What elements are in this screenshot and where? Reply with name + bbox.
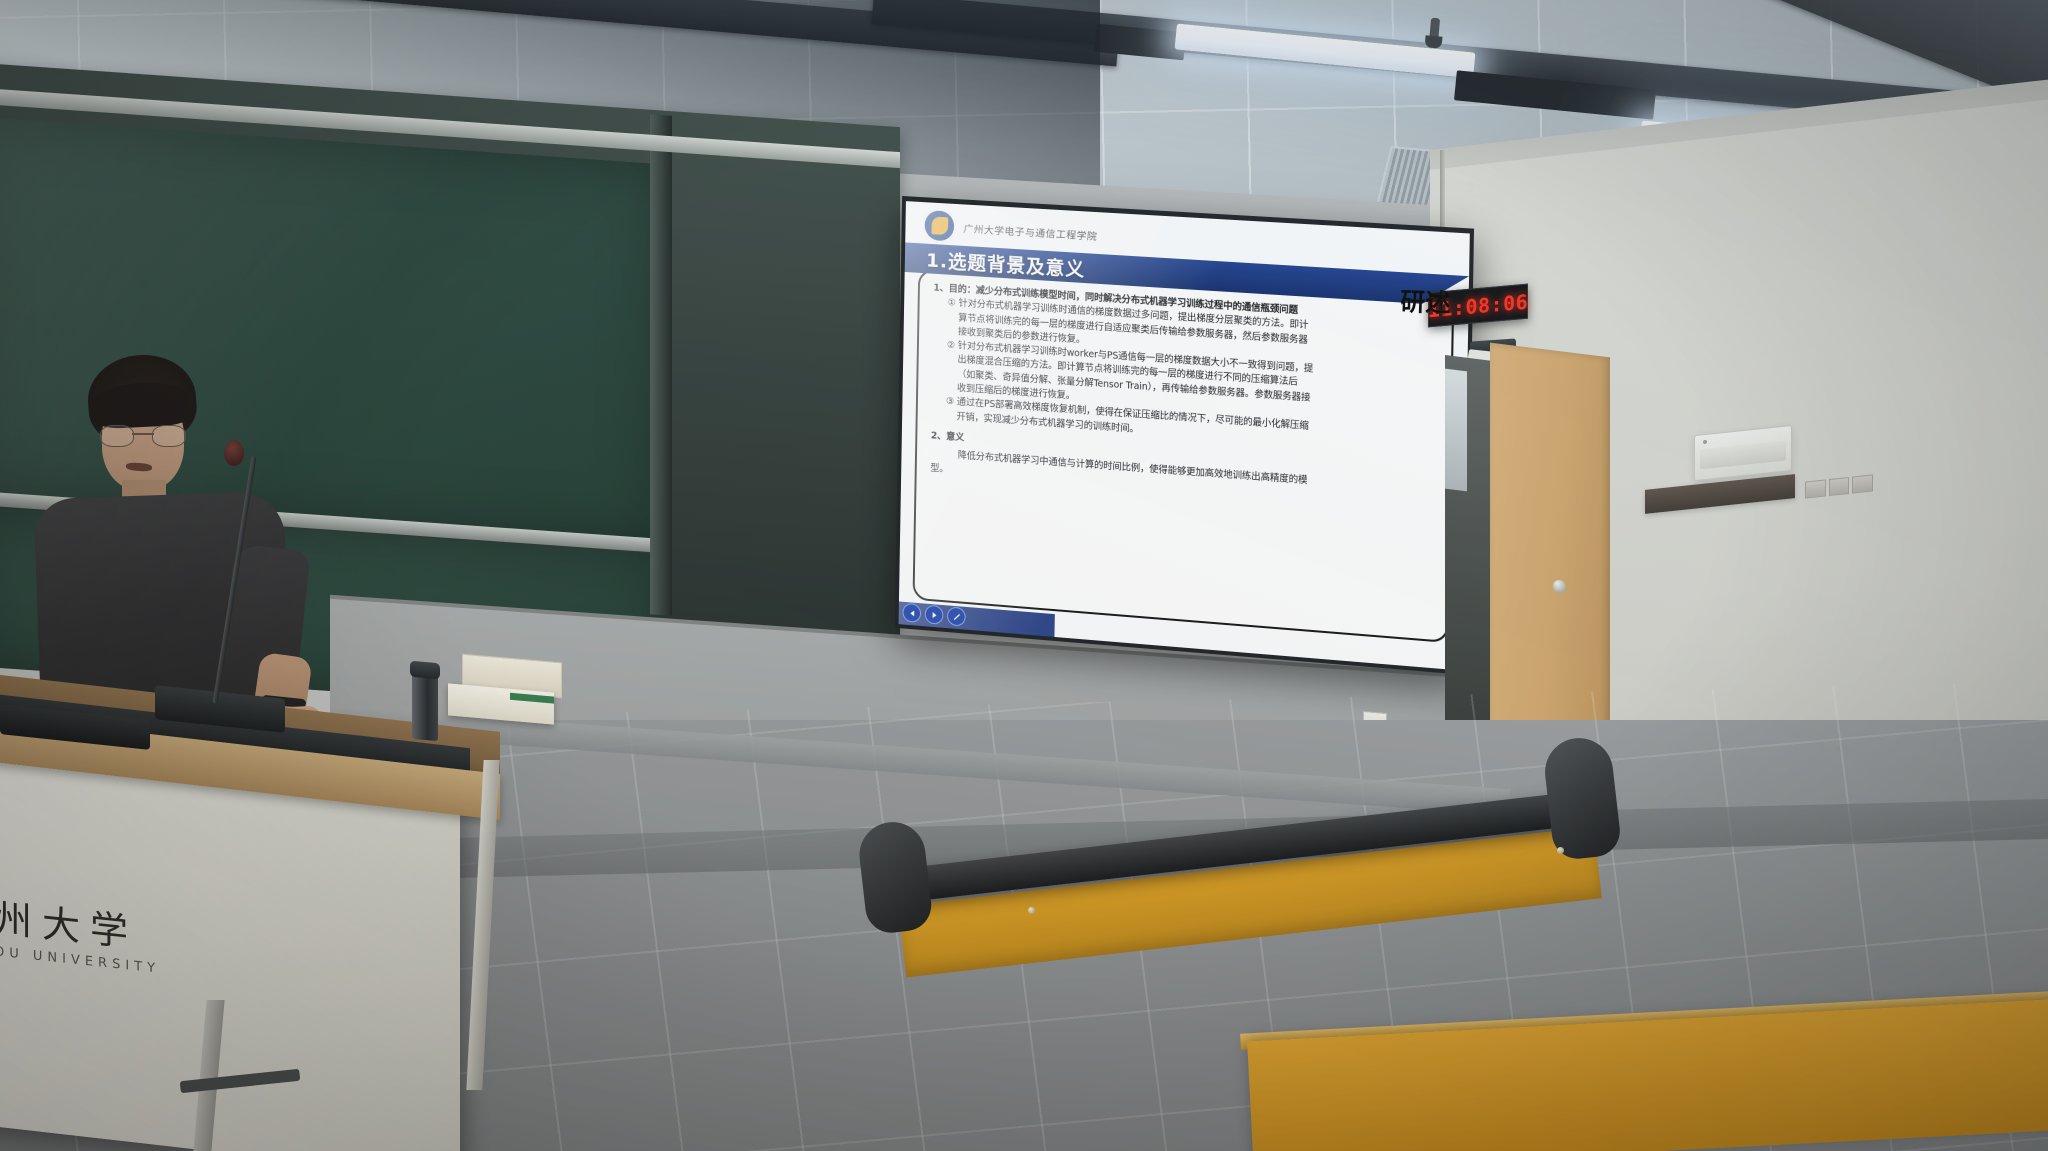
chalkboard-right-edge xyxy=(650,114,672,616)
powerpoint-slide[interactable]: 广州大学电子与通信工程学院 1.选题背景及意义 1、目的：减少分布式训练模型时间… xyxy=(899,201,1470,670)
sprinkler-head-icon xyxy=(1429,18,1440,45)
light-switch[interactable] xyxy=(1805,479,1826,498)
pen-annotation-button[interactable] xyxy=(947,606,966,626)
corridor-light xyxy=(1445,369,1467,492)
microphone-head-icon xyxy=(224,440,244,466)
ac-status-led-icon xyxy=(1703,440,1707,444)
previous-slide-button[interactable] xyxy=(902,603,921,623)
classroom-photo-scene: 广州大学电子与通信工程学院 1.选题背景及意义 1、目的：减少分布式训练模型时间… xyxy=(0,0,2048,1151)
slide-body: 1、目的：减少分布式训练模型时间，同时解决分布式机器学习训练过程中的通信瓶颈问题… xyxy=(913,269,1455,643)
light-switch[interactable] xyxy=(1852,474,1873,493)
next-slide-button[interactable] xyxy=(925,605,944,625)
university-emblem-icon xyxy=(923,208,957,243)
glasses-icon xyxy=(100,425,186,445)
calligraphy-side-text: 学术报告 xyxy=(1438,290,1446,318)
projection-screen: 广州大学电子与通信工程学院 1.选题背景及意义 1、目的：减少分布式训练模型时间… xyxy=(895,196,1474,675)
light-switch[interactable] xyxy=(1829,477,1850,496)
thermos-cap xyxy=(410,661,440,680)
thermos-bottle xyxy=(412,671,438,741)
slide-org-label: 广州大学电子与通信工程学院 xyxy=(963,220,1098,243)
calligraphy-banner: 研述 学术报告 xyxy=(1399,287,1461,337)
